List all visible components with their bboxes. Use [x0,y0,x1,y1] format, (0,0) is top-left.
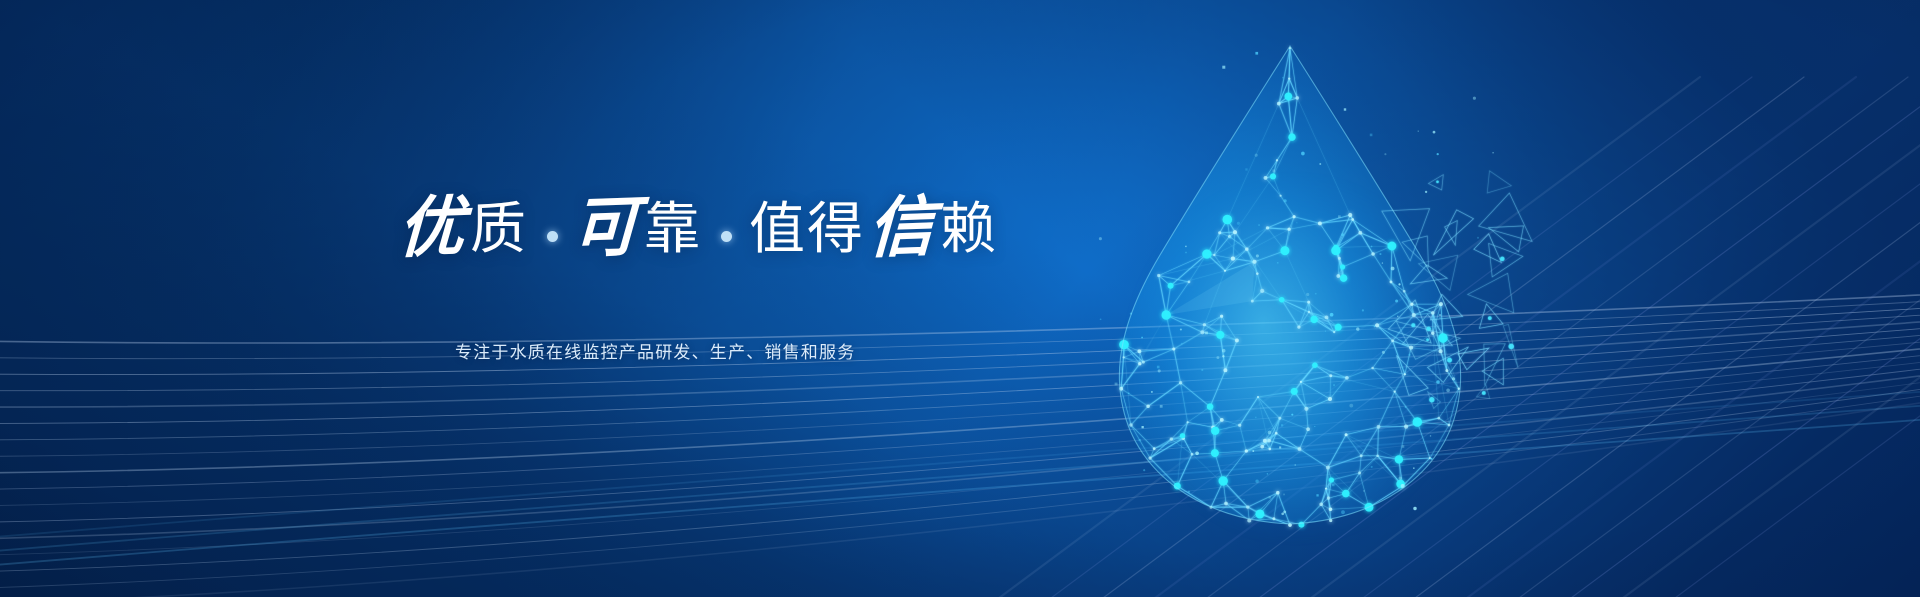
corner-diagonal-line [1636,77,1920,597]
droplet-dust-speck [1473,97,1476,100]
headline-segment-8: 赖 [937,201,1001,257]
hero-headline: 优质可靠值得信赖 [398,196,1001,262]
headline-segment-6: 值得 [746,201,868,257]
droplet-mesh-edge [1266,178,1281,196]
hero-banner: 优质可靠值得信赖 专注于水质在线监控产品研发、生产、销售和服务 [0,0,1920,597]
droplet-mesh-edge [1273,176,1281,195]
droplet-mesh-edge [1288,79,1289,97]
droplet-mesh-edge [1279,96,1289,103]
droplet-mesh-edge [1277,137,1292,160]
droplet-mesh-edge [1288,48,1290,96]
droplet-node [1295,96,1299,100]
droplet-dust-speck [1320,163,1322,165]
droplet-dust-speck [1433,131,1436,134]
droplet-mesh-edge [1273,137,1292,176]
droplet-dust-speck [1282,77,1284,79]
droplet-fragment [1487,171,1511,193]
droplet-dust-speck [1370,134,1373,137]
droplet-mesh-edge [1289,79,1297,98]
corner-diagonal-line [1532,77,1920,597]
corner-diagonal-line [1064,77,1804,597]
droplet-node [1289,47,1291,49]
headline-segment-4: 靠 [641,201,705,257]
corner-diagonal-lines [1140,197,1920,597]
droplet-mesh-edge [1266,176,1274,178]
droplet-mesh-edge [1288,96,1297,98]
droplet-node [1288,133,1295,140]
headline-segment-1: 质 [467,201,531,257]
droplet-dust-speck [1425,191,1427,193]
corner-diagonal-line [1168,77,1908,597]
droplet-dust-speck [1222,66,1225,69]
droplet-dust-speck [1272,169,1275,172]
droplet-node [1277,102,1281,106]
headline-separator-dot [721,231,732,242]
droplet-mesh-edge [1292,98,1297,137]
droplet-node [1284,93,1292,101]
droplet-dust-speck [1384,153,1386,155]
droplet-mesh-edge [1289,48,1290,79]
headline-separator-dot [547,231,558,242]
droplet-mesh-edge [1266,160,1278,178]
headline-segment-3: 可 [571,195,642,263]
droplet-mesh-edge [1290,48,1297,98]
droplet-node [1270,173,1276,179]
droplet-dust-speck [1255,52,1258,55]
droplet-dust-speck [1099,237,1102,240]
corner-diagonal-line [1220,77,1920,597]
droplet-mesh-edge [1273,160,1277,176]
droplet-mesh-edge [1279,79,1289,104]
droplet-dust-speck [1492,152,1493,153]
headline-segment-0: 优 [397,195,468,263]
corner-diagonal-line [1116,77,1856,597]
droplet-node [1276,159,1278,161]
droplet-mesh-edge [1279,98,1298,104]
droplet-node [1288,77,1290,79]
headline-segment-7: 信 [867,195,938,263]
droplet-mesh-edge [1279,48,1290,104]
droplet-dust-speck [1437,153,1439,155]
droplet-dust-speck [1255,154,1258,157]
droplet-dust-speck [1245,168,1247,170]
droplet-mesh-edge [1279,104,1292,138]
corner-diagonal-line [1324,77,1920,597]
droplet-dust-speck [1301,152,1305,156]
droplet-dust-speck [1418,131,1419,132]
droplet-dust-speck [1344,108,1346,110]
droplet-node [1264,176,1268,180]
droplet-fragment [1428,175,1443,190]
droplet-fragment-node [1436,180,1439,183]
droplet-mesh-edge [1288,96,1292,137]
corner-diagonal-line [1428,77,1920,597]
